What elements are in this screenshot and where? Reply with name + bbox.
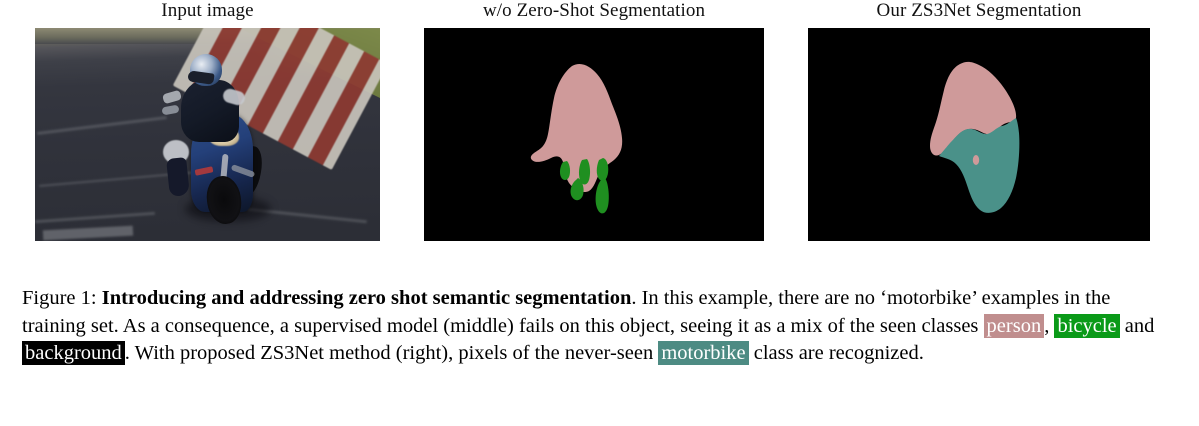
motorcycle-photo: [35, 28, 380, 241]
panel-ours-title: Our ZS3Net Segmentation: [808, 0, 1150, 22]
photo-rider-suit-stripe: [162, 90, 182, 105]
panel-baseline-title: w/o Zero-Shot Segmentation: [424, 0, 764, 22]
ours-segmentation-canvas: [808, 28, 1150, 241]
baseline-segmentation-canvas: [424, 28, 764, 241]
ours-mask-svg: [808, 28, 1150, 241]
caption-text-part-3: class are recognized.: [749, 342, 924, 364]
caption-figure-label: Figure 1:: [22, 287, 97, 309]
panel-input-image: Input image: [35, 0, 380, 241]
caption-class-motorbike: motorbike: [658, 341, 748, 365]
figure-caption: Figure 1: Introducing and addressing zer…: [22, 285, 1177, 368]
photo-road-mark: [35, 212, 155, 223]
caption-bold-title: Introducing and addressing zero shot sem…: [102, 287, 632, 309]
photo-rider-suit-stripe: [161, 105, 179, 116]
caption-separator-2: and: [1120, 315, 1155, 337]
panel-ours-segmentation: Our ZS3Net Segmentation: [808, 0, 1150, 241]
baseline-mask-svg: [424, 28, 764, 241]
caption-class-background: background: [22, 341, 125, 365]
caption-class-bicycle: bicycle: [1054, 314, 1119, 338]
caption-class-person: person: [984, 314, 1045, 338]
figure-panel-row: Input image: [0, 0, 1199, 262]
photo-road-mark: [43, 226, 133, 241]
panel-baseline-segmentation: w/o Zero-Shot Segmentation: [424, 0, 764, 241]
ours-person-speck: [973, 155, 979, 165]
photo-rider-boot: [166, 157, 190, 197]
caption-text-part-2: . With proposed ZS3Net method (right), p…: [125, 342, 659, 364]
photo-road-mark: [37, 116, 166, 135]
baseline-bicycle-region: [597, 158, 609, 181]
panel-input-title: Input image: [35, 0, 380, 22]
caption-separator-1: ,: [1044, 315, 1054, 337]
input-image-canvas: [35, 28, 380, 241]
